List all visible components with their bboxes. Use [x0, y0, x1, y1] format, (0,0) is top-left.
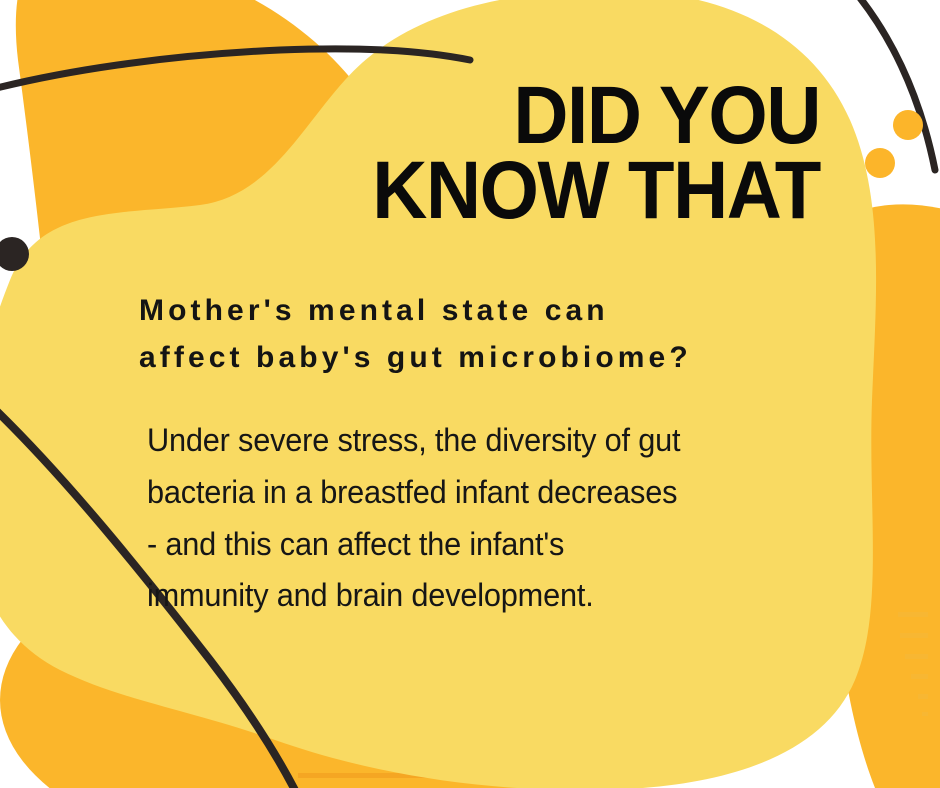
headline-line-1: DID YOU	[197, 78, 820, 153]
body-line-1: Under severe stress, the diversity of gu…	[147, 415, 819, 467]
body-line-2: bacteria in a breastfed infant decreases	[147, 467, 819, 519]
text-content-layer: DID YOU KNOW THAT Mother's mental state …	[0, 0, 940, 788]
page-title: DID YOU KNOW THAT	[150, 78, 820, 229]
body-text: Under severe stress, the diversity of gu…	[147, 415, 847, 622]
headline-line-2: KNOW THAT	[197, 153, 820, 228]
subheading-line-1: Mother's mental state can	[139, 288, 859, 335]
poster-canvas: DID YOU KNOW THAT Mother's mental state …	[0, 0, 940, 788]
subheading-line-2: affect baby's gut microbiome?	[139, 335, 859, 382]
body-line-4: immunity and brain development.	[147, 570, 819, 622]
body-line-3: - and this can affect the infant's	[147, 519, 819, 571]
subheading: Mother's mental state can affect baby's …	[139, 288, 859, 381]
